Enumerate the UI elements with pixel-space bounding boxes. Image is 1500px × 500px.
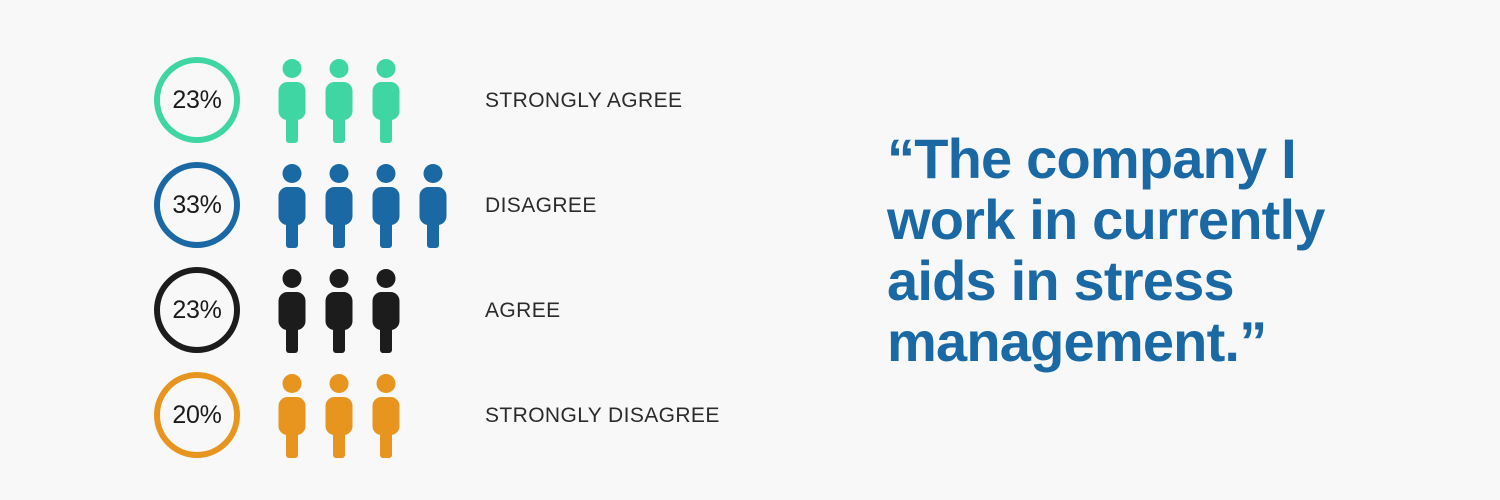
- person-icon-group: [276, 58, 402, 143]
- person-icon-group: [276, 163, 449, 248]
- person-icon-group: [276, 268, 402, 353]
- category-label: DISAGREE: [485, 153, 597, 258]
- stat-row: 33%: [0, 153, 860, 258]
- percentage-ring: 33%: [154, 162, 240, 248]
- survey-results-panel: 23% STRONGLY AGREE: [0, 0, 860, 500]
- person-icon: [370, 373, 402, 458]
- person-icon: [370, 268, 402, 353]
- person-icon: [276, 373, 308, 458]
- stat-row: 23% AGREE: [0, 258, 860, 363]
- percentage-ring: 20%: [154, 372, 240, 458]
- percentage-value: 23%: [172, 298, 221, 323]
- infographic-canvas: 23% STRONGLY AGREE: [0, 0, 1500, 500]
- category-label: STRONGLY DISAGREE: [485, 363, 720, 468]
- person-icon: [323, 268, 355, 353]
- category-label: STRONGLY AGREE: [485, 48, 682, 153]
- person-icon: [370, 163, 402, 248]
- person-icon: [276, 58, 308, 143]
- person-icon: [276, 163, 308, 248]
- person-icon: [417, 163, 449, 248]
- percentage-value: 33%: [172, 193, 221, 218]
- percentage-value: 20%: [172, 403, 221, 428]
- quote-panel: “The company I work in currently aids in…: [860, 0, 1500, 500]
- person-icon: [323, 163, 355, 248]
- category-label: AGREE: [485, 258, 561, 363]
- stat-row: 23% STRONGLY AGREE: [0, 48, 860, 153]
- stat-row: 20% STRONGLY DISAGRE: [0, 363, 860, 468]
- percentage-ring: 23%: [154, 57, 240, 143]
- percentage-ring: 23%: [154, 267, 240, 353]
- quote-text: “The company I work in currently aids in…: [860, 128, 1427, 372]
- percentage-value: 23%: [172, 88, 221, 113]
- person-icon: [370, 58, 402, 143]
- person-icon: [323, 58, 355, 143]
- person-icon-group: [276, 373, 402, 458]
- person-icon: [323, 373, 355, 458]
- person-icon: [276, 268, 308, 353]
